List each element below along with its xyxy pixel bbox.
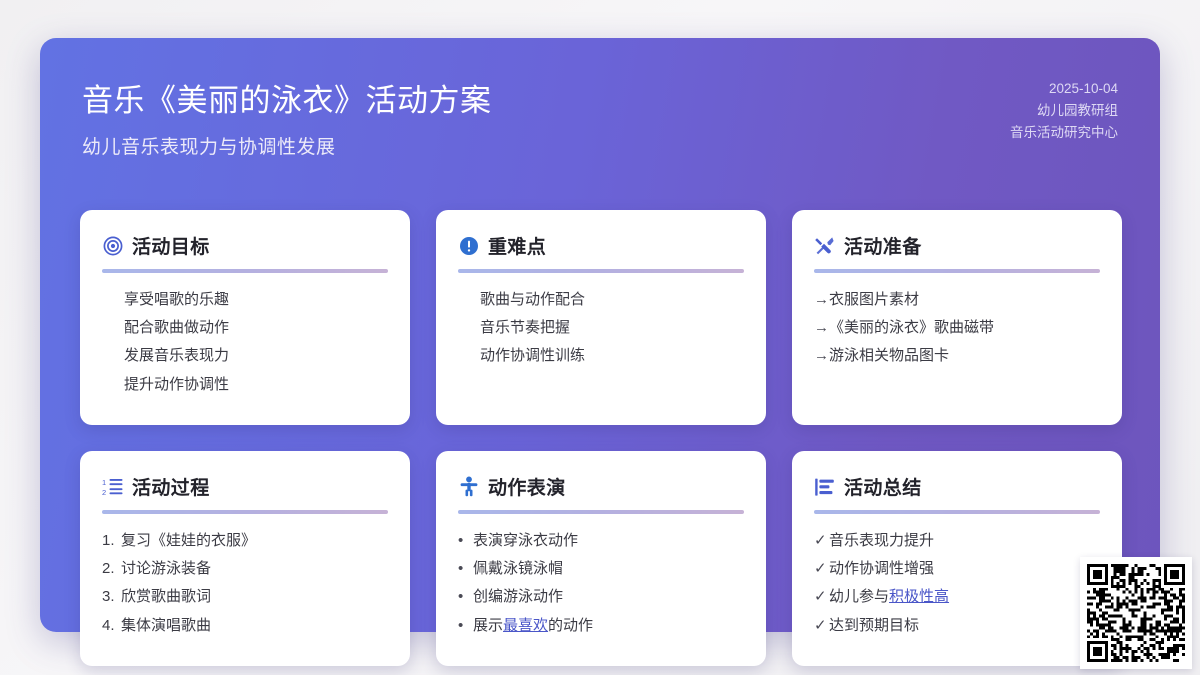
slide-header: 音乐《美丽的泳衣》活动方案 幼儿音乐表现力与协调性发展 2025-10-04 幼… xyxy=(40,60,1160,190)
qr-code-image xyxy=(1087,564,1185,662)
list-item-label: 集体演唱歌曲 xyxy=(121,617,211,634)
card-header: 12活动过程 xyxy=(102,473,388,500)
card-divider xyxy=(458,510,744,514)
list-item-label: 佩戴泳镜泳帽 xyxy=(473,560,563,577)
list-item-label: 动作协调性增强 xyxy=(829,560,934,577)
list-item-marker: → xyxy=(814,286,829,314)
card-header: 动作表演 xyxy=(458,473,744,500)
list-item: 3.欣赏歌曲歌词 xyxy=(102,583,388,611)
card-divider xyxy=(102,269,388,273)
card-活动过程: 12活动过程1.复习《娃娃的衣服》2.讨论游泳装备3.欣赏歌曲歌词4.集体演唱歌… xyxy=(80,451,410,666)
card-活动目标: 活动目标享受唱歌的乐趣配合歌曲做动作发展音乐表现力提升动作协调性 xyxy=(80,210,410,425)
list-item-marker: 1. xyxy=(102,527,121,555)
card-header: 活动目标 xyxy=(102,232,388,259)
list-item-label: 衣服图片素材 xyxy=(829,291,919,308)
list-item-label: 音乐节奏把握 xyxy=(480,319,570,336)
list-item-label-suffix: 的动作 xyxy=(548,617,593,634)
card-活动准备: 活动准备→衣服图片素材→《美丽的泳衣》歌曲磁带→游泳相关物品图卡 xyxy=(792,210,1122,425)
list-item: →游泳相关物品图卡 xyxy=(814,342,1100,370)
list-item: ✓音乐表现力提升 xyxy=(814,527,1100,555)
card-header: 重难点 xyxy=(458,232,744,259)
svg-text:2: 2 xyxy=(102,488,106,497)
card-body: 歌曲与动作配合音乐节奏把握动作协调性训练 xyxy=(458,286,744,371)
card-body: 1.复习《娃娃的衣服》2.讨论游泳装备3.欣赏歌曲歌词4.集体演唱歌曲 xyxy=(102,527,388,640)
list-item-label: 达到预期目标 xyxy=(829,617,919,634)
numbered-list-icon: 12 xyxy=(102,476,123,497)
list-item: 动作协调性训练 xyxy=(458,342,744,370)
list-item-label: 欣赏歌曲歌词 xyxy=(121,588,211,605)
page-subtitle: 幼儿音乐表现力与协调性发展 xyxy=(82,132,492,159)
card-title: 活动过程 xyxy=(132,473,210,500)
title-block: 音乐《美丽的泳衣》活动方案 幼儿音乐表现力与协调性发展 xyxy=(82,82,492,159)
qr-code[interactable] xyxy=(1080,557,1192,669)
card-header: 活动总结 xyxy=(814,473,1100,500)
list-item: 4.集体演唱歌曲 xyxy=(102,612,388,640)
list-item-marker: 3. xyxy=(102,583,121,611)
list-item-label: 动作协调性训练 xyxy=(480,347,585,364)
list-item-label: 展示 xyxy=(473,617,503,634)
list-item: •表演穿泳衣动作 xyxy=(458,527,744,555)
list-item: •佩戴泳镜泳帽 xyxy=(458,555,744,583)
list-item-marker: ✓ xyxy=(814,583,829,611)
tools-icon xyxy=(814,235,835,256)
card-body: •表演穿泳衣动作•佩戴泳镜泳帽•创编游泳动作•展示最喜欢的动作 xyxy=(458,527,744,640)
list-item-label: 讨论游泳装备 xyxy=(121,560,211,577)
card-divider xyxy=(102,510,388,514)
list-item-marker: → xyxy=(814,342,829,370)
inline-link[interactable]: 积极性高 xyxy=(889,588,949,605)
card-title: 活动总结 xyxy=(844,473,922,500)
meta-date: 2025-10-04 xyxy=(1010,78,1118,100)
bar-chart-icon xyxy=(814,476,835,497)
list-item-marker: • xyxy=(458,612,473,640)
card-grid: 活动目标享受唱歌的乐趣配合歌曲做动作发展音乐表现力提升动作协调性重难点歌曲与动作… xyxy=(80,210,1121,666)
list-item-marker: ✓ xyxy=(814,612,829,640)
card-重难点: 重难点歌曲与动作配合音乐节奏把握动作协调性训练 xyxy=(436,210,766,425)
list-item: 1.复习《娃娃的衣服》 xyxy=(102,527,388,555)
list-item: •创编游泳动作 xyxy=(458,583,744,611)
card-title: 活动准备 xyxy=(844,232,922,259)
card-body: 享受唱歌的乐趣配合歌曲做动作发展音乐表现力提升动作协调性 xyxy=(102,286,388,399)
list-item: 2.讨论游泳装备 xyxy=(102,555,388,583)
page-title: 音乐《美丽的泳衣》活动方案 xyxy=(82,82,492,121)
list-item: 享受唱歌的乐趣 xyxy=(102,286,388,314)
list-item-label: 创编游泳动作 xyxy=(473,588,563,605)
card-title: 动作表演 xyxy=(488,473,566,500)
list-item: ✓动作协调性增强 xyxy=(814,555,1100,583)
list-item-marker: ✓ xyxy=(814,555,829,583)
list-item-label: 游泳相关物品图卡 xyxy=(829,347,949,364)
list-item-label: 幼儿参与 xyxy=(829,588,889,605)
list-item-marker: • xyxy=(458,583,473,611)
svg-text:1: 1 xyxy=(102,478,106,487)
list-item: 发展音乐表现力 xyxy=(102,342,388,370)
list-item-marker: → xyxy=(814,314,829,342)
list-item-label: 提升动作协调性 xyxy=(124,376,229,393)
card-divider xyxy=(814,269,1100,273)
list-item: •展示最喜欢的动作 xyxy=(458,612,744,640)
list-item-marker: • xyxy=(458,555,473,583)
list-item-marker: 2. xyxy=(102,555,121,583)
list-item-label: 歌曲与动作配合 xyxy=(480,291,585,308)
card-divider xyxy=(814,510,1100,514)
card-header: 活动准备 xyxy=(814,232,1100,259)
list-item: 配合歌曲做动作 xyxy=(102,314,388,342)
list-item-marker: ✓ xyxy=(814,527,829,555)
meta-org: 幼儿园教研组 xyxy=(1010,100,1118,122)
list-item-label: 享受唱歌的乐趣 xyxy=(124,291,229,308)
header-meta: 2025-10-04 幼儿园教研组 音乐活动研究中心 xyxy=(1010,78,1118,144)
list-item-label: 音乐表现力提升 xyxy=(829,532,934,549)
meta-dept: 音乐活动研究中心 xyxy=(1010,122,1118,144)
card-title: 活动目标 xyxy=(132,232,210,259)
list-item: 提升动作协调性 xyxy=(102,371,388,399)
inline-link[interactable]: 最喜欢 xyxy=(503,617,548,634)
card-body: ✓音乐表现力提升✓动作协调性增强✓幼儿参与积极性高✓达到预期目标 xyxy=(814,527,1100,640)
list-item-label: 发展音乐表现力 xyxy=(124,347,229,364)
list-item-label: 复习《娃娃的衣服》 xyxy=(121,532,256,549)
list-item: ✓幼儿参与积极性高 xyxy=(814,583,1100,611)
card-活动总结: 活动总结✓音乐表现力提升✓动作协调性增强✓幼儿参与积极性高✓达到预期目标 xyxy=(792,451,1122,666)
card-body: →衣服图片素材→《美丽的泳衣》歌曲磁带→游泳相关物品图卡 xyxy=(814,286,1100,371)
list-item-marker: 4. xyxy=(102,612,121,640)
target-icon xyxy=(102,235,123,256)
list-item: →《美丽的泳衣》歌曲磁带 xyxy=(814,314,1100,342)
list-item: 音乐节奏把握 xyxy=(458,314,744,342)
list-item: →衣服图片素材 xyxy=(814,286,1100,314)
card-title: 重难点 xyxy=(488,232,546,259)
person-icon xyxy=(458,476,479,497)
list-item: 歌曲与动作配合 xyxy=(458,286,744,314)
card-divider xyxy=(458,269,744,273)
exclamation-circle-icon xyxy=(458,235,479,256)
list-item-label: 配合歌曲做动作 xyxy=(124,319,229,336)
list-item-marker: • xyxy=(458,527,473,555)
list-item-label: 表演穿泳衣动作 xyxy=(473,532,578,549)
list-item: ✓达到预期目标 xyxy=(814,612,1100,640)
list-item-label: 《美丽的泳衣》歌曲磁带 xyxy=(829,319,994,336)
card-动作表演: 动作表演•表演穿泳衣动作•佩戴泳镜泳帽•创编游泳动作•展示最喜欢的动作 xyxy=(436,451,766,666)
